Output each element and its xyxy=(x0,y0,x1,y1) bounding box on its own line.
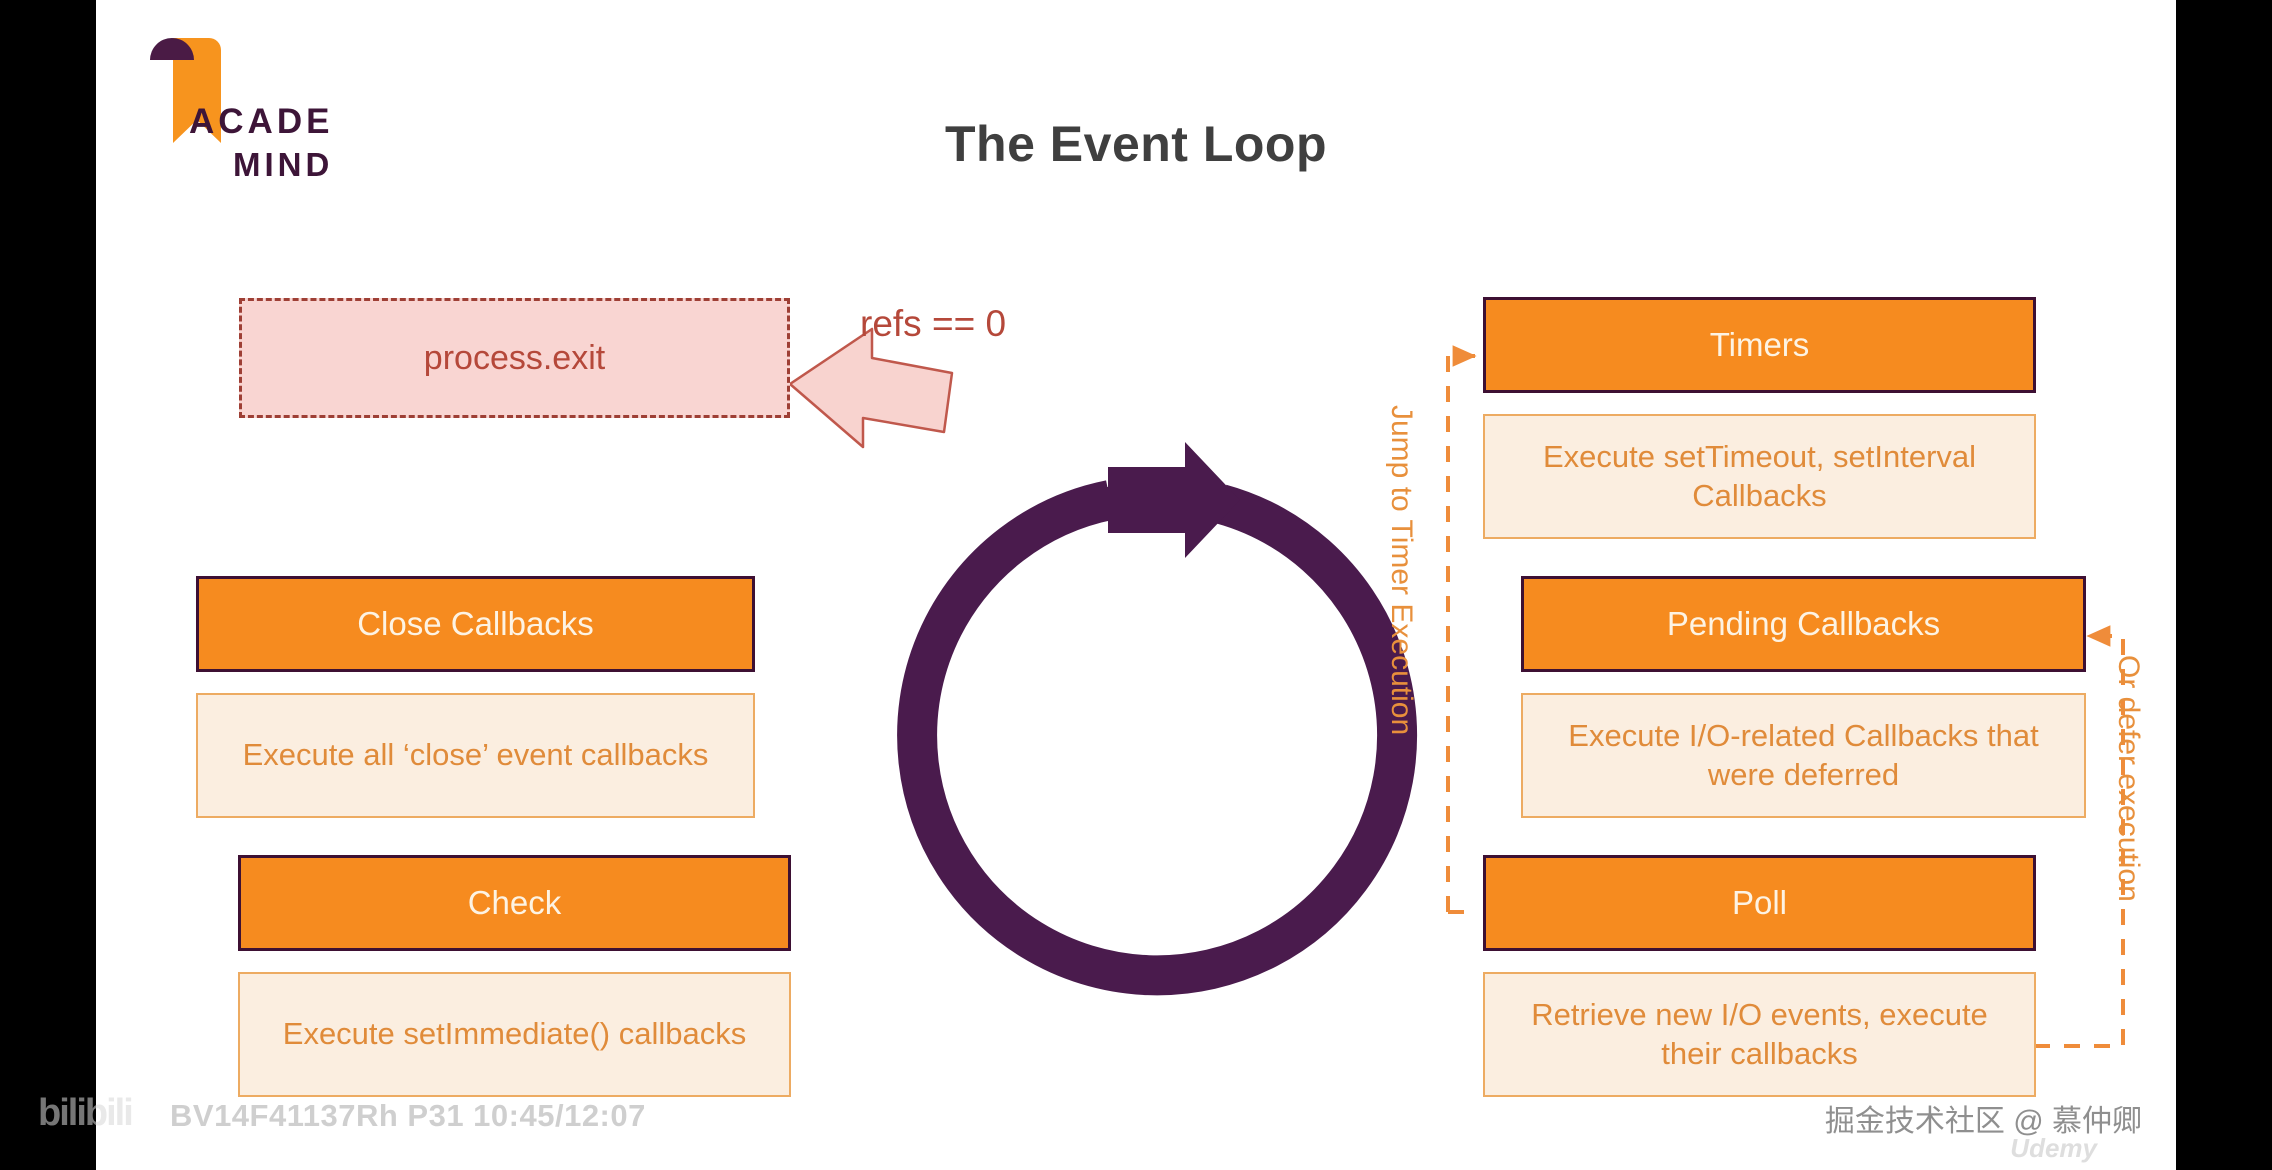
bilibili-logo-watermark: bilibili xyxy=(38,1092,132,1135)
jump-to-timer-label: Jump to Timer Execution xyxy=(1384,405,1418,735)
screenshot-stage: ACADE MIND The Event Loop xyxy=(0,0,2272,1170)
phase-desc-poll: Retrieve new I/O events, execute their c… xyxy=(1483,972,2036,1097)
phase-desc-pending-callbacks: Execute I/O-related Callbacks that were … xyxy=(1521,693,2086,818)
phase-desc-check: Execute setImmediate() callbacks xyxy=(238,972,791,1097)
phase-desc-timers: Execute setTimeout, setInterval Callback… xyxy=(1483,414,2036,539)
bilibili-info-watermark: BV14F41137Rh P31 10:45/12:07 xyxy=(170,1098,646,1134)
phase-head-timers[interactable]: Timers xyxy=(1483,297,2036,393)
phase-head-close-callbacks[interactable]: Close Callbacks xyxy=(196,576,755,672)
udemy-watermark: Udemy xyxy=(2010,1133,2097,1164)
phase-head-poll[interactable]: Poll xyxy=(1483,855,2036,951)
or-defer-execution-label: Or defer execution xyxy=(2111,655,2145,902)
phase-desc-close-callbacks: Execute all ‘close’ event callbacks xyxy=(196,693,755,818)
page-title: The Event Loop xyxy=(0,115,2272,173)
phase-head-check[interactable]: Check xyxy=(238,855,791,951)
refs-zero-label: refs == 0 xyxy=(860,303,1006,345)
phase-head-pending-callbacks[interactable]: Pending Callbacks xyxy=(1521,576,2086,672)
process-exit-box[interactable]: process.exit xyxy=(239,298,790,418)
